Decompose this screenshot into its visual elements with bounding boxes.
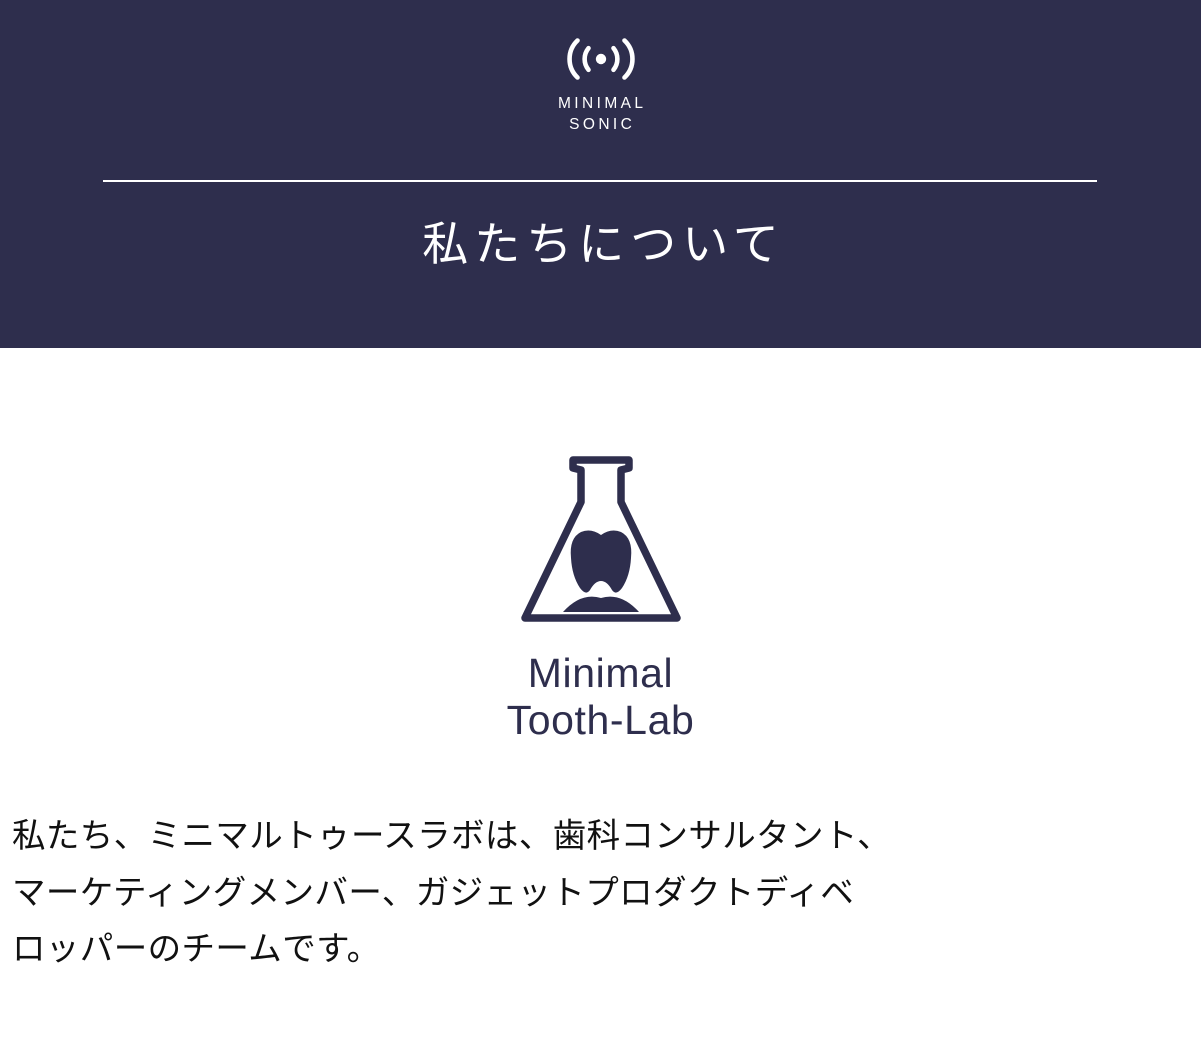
brand-name-line-2: SONIC [566, 116, 635, 133]
about-paragraph: 私たち、ミニマルトゥースラボは、歯科コンサルタント、 マーケティングメンバー、ガ… [0, 809, 1201, 978]
header-divider [103, 180, 1097, 182]
lab-name-line-1: Minimal [507, 650, 695, 697]
brand-name-line-1: MINIMAL [555, 95, 647, 112]
main-content: Minimal Tooth-Lab 私たち、ミニマルトゥースラボは、歯科コンサル… [0, 440, 1201, 978]
lab-name: Minimal Tooth-Lab [507, 650, 695, 743]
site-header: MINIMAL SONIC 私たちについて [0, 0, 1201, 348]
brand-block[interactable]: MINIMAL SONIC [555, 34, 647, 133]
about-paragraph-line-2: マーケティングメンバー、ガジェットプロダクトディベ [12, 866, 1189, 922]
lab-logo-block: Minimal Tooth-Lab [0, 440, 1201, 743]
about-paragraph-line-3: ロッパーのチームです。 [12, 922, 1189, 978]
about-page: MINIMAL SONIC 私たちについて Minimal [0, 0, 1201, 1061]
sonic-wave-icon [558, 34, 644, 84]
flask-tooth-icon [501, 440, 701, 640]
brand-name: MINIMAL SONIC [555, 95, 647, 133]
page-title: 私たちについて [0, 216, 1201, 274]
about-paragraph-line-1: 私たち、ミニマルトゥースラボは、歯科コンサルタント、 [12, 809, 1189, 865]
lab-name-line-2: Tooth-Lab [507, 697, 695, 744]
